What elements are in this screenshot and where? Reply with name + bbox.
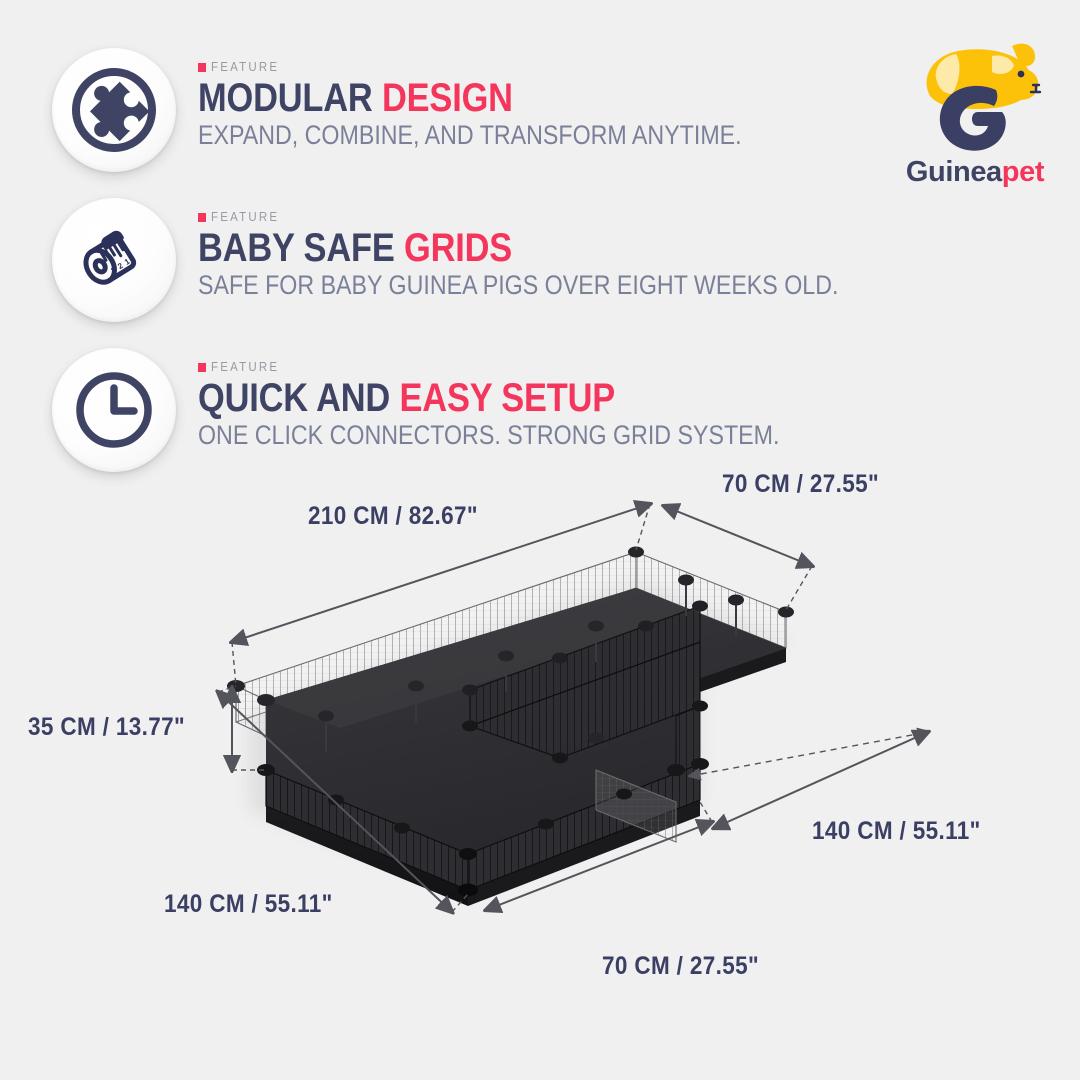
feature-headline: MODULAR DESIGN [198, 77, 742, 119]
clock-icon [66, 362, 162, 458]
eyebrow-square-bullet [198, 363, 206, 372]
feature-icon-badge [52, 48, 176, 172]
feature-subline: ONE CLICK CONNECTORS. STRONG GRID SYSTEM… [198, 420, 779, 450]
feature-text-block: FEATURE BABY SAFE GRIDS SAFE FOR BABY GU… [176, 198, 943, 300]
eyebrow-square-bullet [198, 213, 206, 222]
feature-eyebrow: FEATURE [198, 60, 830, 74]
brand-logo: Guineapet [900, 34, 1050, 189]
headline-primary: QUICK AND [198, 376, 399, 420]
dimension-label-140cm-left: 140 CM / 55.11" [164, 890, 333, 919]
feature-text-block: FEATURE MODULAR DESIGN EXPAND, COMBINE, … [176, 48, 830, 150]
eyebrow-label: FEATURE [211, 60, 279, 74]
feature-eyebrow: FEATURE [198, 360, 874, 374]
dimension-label-210cm: 210 CM / 82.67" [308, 502, 478, 531]
guinea-pig-g-logo-icon [900, 34, 1050, 160]
headline-primary: MODULAR [198, 76, 382, 120]
wordmark-primary: Guinea [906, 156, 1002, 188]
feature-list: FEATURE MODULAR DESIGN EXPAND, COMBINE, … [52, 48, 812, 498]
eyebrow-label: FEATURE [211, 360, 279, 374]
feature-eyebrow: FEATURE [198, 210, 943, 224]
product-dimension-diagram: 210 CM / 82.67" 70 CM / 27.55" 35 CM / 1… [0, 470, 1080, 1080]
dimension-label-140cm-right: 140 CM / 55.11" [812, 817, 981, 846]
headline-accent: DESIGN [382, 76, 513, 120]
dimension-label-70cm-bottom: 70 CM / 27.55" [602, 952, 759, 981]
dimension-label-35cm: 35 CM / 13.77" [28, 713, 185, 742]
feature-subline: SAFE FOR BABY GUINEA PIGS OVER EIGHT WEE… [198, 270, 838, 300]
wordmark-accent: pet [1002, 156, 1044, 188]
headline-primary: BABY SAFE [198, 226, 404, 270]
headline-accent: EASY SETUP [399, 376, 615, 420]
headline-accent: GRIDS [404, 226, 512, 270]
feature-icon-badge: 321 [52, 198, 176, 322]
feature-headline: BABY SAFE GRIDS [198, 227, 838, 269]
measuring-tape-icon: 321 [66, 212, 162, 308]
cage-illustration [0, 470, 1080, 1080]
puzzle-piece-icon [66, 62, 162, 158]
feature-subline: EXPAND, COMBINE, AND TRANSFORM ANYTIME. [198, 120, 742, 150]
feature-text-block: FEATURE QUICK AND EASY SETUP ONE CLICK C… [176, 348, 874, 450]
eyebrow-label: FEATURE [211, 210, 279, 224]
feature-item-baby-safe-grids: 321 FEATURE BABY SAFE GRIDS SAFE FOR BAB… [52, 198, 812, 348]
brand-wordmark: Guineapet [900, 156, 1050, 189]
feature-icon-badge [52, 348, 176, 472]
dimension-label-70cm-top: 70 CM / 27.55" [722, 470, 879, 499]
feature-item-modular-design: FEATURE MODULAR DESIGN EXPAND, COMBINE, … [52, 48, 812, 198]
feature-headline: QUICK AND EASY SETUP [198, 377, 779, 419]
eyebrow-square-bullet [198, 63, 206, 72]
